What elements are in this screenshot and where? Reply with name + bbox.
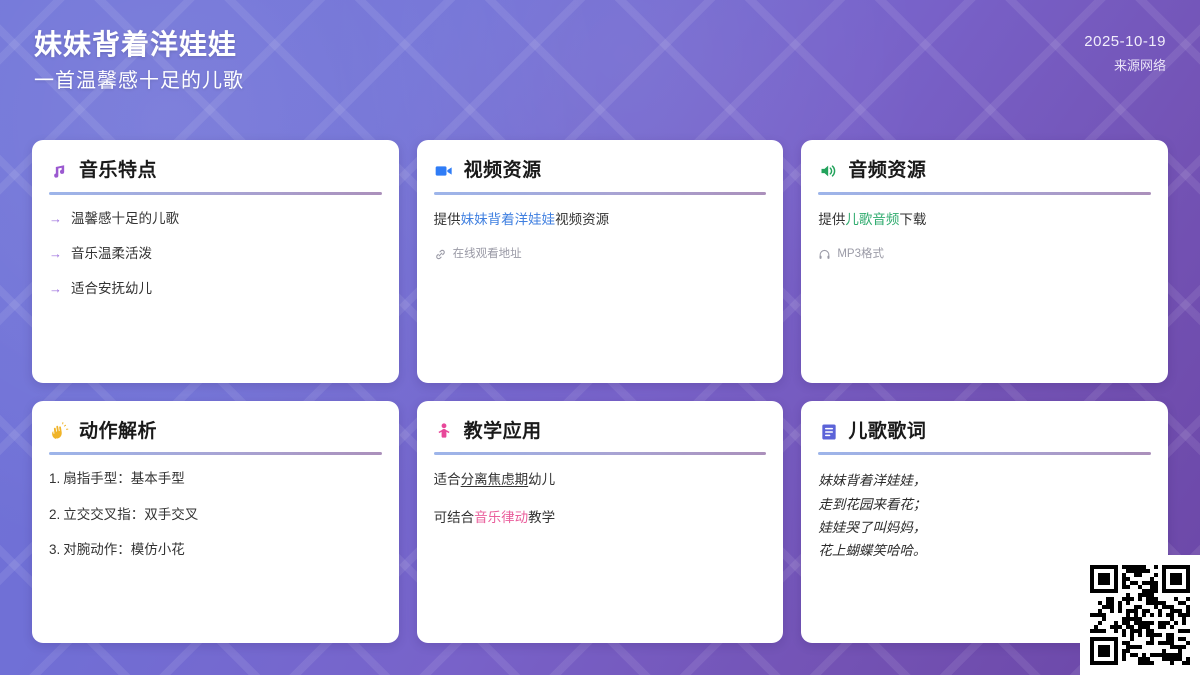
list-item: 3.对腕动作：模仿小花 <box>49 540 382 560</box>
card-divider <box>49 452 382 455</box>
text-prefix: 适合 <box>434 472 461 487</box>
card-divider <box>434 452 767 455</box>
card-grid: 音乐特点 → 温馨感十足的儿歌 → 音乐温柔活泼 → 适合安抚幼儿 <box>32 140 1168 643</box>
text-prefix: 提供 <box>434 212 461 227</box>
card-title: 视频资源 <box>464 160 542 183</box>
card-motion-analysis[interactable]: 动作解析 1.扇指手型：基本手型 2.立交交叉指：双手交叉 3.对腕动作：模仿小… <box>32 401 399 644</box>
card-teaching-application[interactable]: 教学应用 适合分离焦虑期幼儿 可结合音乐律动教学 <box>417 401 784 644</box>
card-music-features[interactable]: 音乐特点 → 温馨感十足的儿歌 → 音乐温柔活泼 → 适合安抚幼儿 <box>32 140 399 383</box>
text-suffix: 幼儿 <box>528 472 555 487</box>
text-prefix: 可结合 <box>434 510 475 525</box>
card-header: 动作解析 <box>49 421 382 444</box>
card-header: 视频资源 <box>434 160 767 183</box>
card-body: 提供儿歌音频下载 MP3格式 <box>818 209 1151 367</box>
card-title: 音频资源 <box>848 160 926 183</box>
list-item-label: 适合安抚幼儿 <box>71 279 152 299</box>
card-title: 教学应用 <box>464 421 542 444</box>
teaching-line-1: 适合分离焦虑期幼儿 <box>434 469 767 491</box>
qr-code[interactable] <box>1080 555 1200 675</box>
text-suffix: 视频资源 <box>555 212 609 227</box>
list-item-label: 扇指手型：基本手型 <box>63 471 185 486</box>
text-highlight: 音乐律动 <box>474 510 528 525</box>
book-icon <box>818 421 839 442</box>
header-meta: 2025-10-19 来源网络 <box>1084 26 1166 79</box>
page-root: 妹妹背着洋娃娃 一首温馨感十足的儿歌 2025-10-19 来源网络 音乐特点 <box>0 0 1200 675</box>
list-item: 2.立交交叉指：双手交叉 <box>49 505 382 525</box>
list-index: 3. <box>49 542 60 557</box>
audio-description: 提供儿歌音频下载 <box>818 209 1151 231</box>
clapping-hands-icon <box>49 421 70 442</box>
list-index: 1. <box>49 471 60 486</box>
video-description: 提供妹妹背着洋娃娃视频资源 <box>434 209 767 231</box>
card-audio-resource[interactable]: 音频资源 提供儿歌音频下载 MP3格式 <box>801 140 1168 383</box>
lyric-line: 妹妹背着洋娃娃， <box>818 469 1151 492</box>
list-item: → 适合安抚幼儿 <box>49 279 382 299</box>
music-note-icon <box>49 161 70 182</box>
page-title: 妹妹背着洋娃娃 <box>34 26 244 64</box>
text-highlight: 分离焦虑期 <box>461 472 529 487</box>
audio-format-row: MP3格式 <box>818 246 1151 262</box>
headphones-icon <box>818 248 831 261</box>
card-video-resource[interactable]: 视频资源 提供妹妹背着洋娃娃视频资源 在线观看地址 <box>417 140 784 383</box>
card-title: 音乐特点 <box>79 160 157 183</box>
text-highlight: 儿歌音频 <box>845 212 899 227</box>
arrow-icon: → <box>49 244 62 264</box>
title-block: 妹妹背着洋娃娃 一首温馨感十足的儿歌 <box>34 26 244 98</box>
list-item-label: 音乐温柔活泼 <box>71 244 152 264</box>
video-camera-icon <box>434 161 455 182</box>
card-header: 儿歌歌词 <box>818 421 1151 444</box>
link-icon <box>434 248 447 261</box>
card-header: 教学应用 <box>434 421 767 444</box>
card-divider <box>434 192 767 195</box>
page-subtitle: 一首温馨感十足的儿歌 <box>34 64 244 98</box>
feature-list: → 温馨感十足的儿歌 → 音乐温柔活泼 → 适合安抚幼儿 <box>49 209 382 300</box>
list-item: 1.扇指手型：基本手型 <box>49 469 382 489</box>
lyric-line: 走到花园来看花； <box>818 493 1151 516</box>
lyric-line: 娃娃哭了叫妈妈， <box>818 516 1151 539</box>
card-title: 动作解析 <box>79 421 157 444</box>
list-item-label: 对腕动作：模仿小花 <box>63 542 185 557</box>
card-divider <box>818 452 1151 455</box>
qr-code-image <box>1090 565 1190 665</box>
card-title: 儿歌歌词 <box>848 421 926 444</box>
video-link-label: 在线观看地址 <box>453 246 522 262</box>
teaching-line-2: 可结合音乐律动教学 <box>434 507 767 529</box>
list-index: 2. <box>49 507 60 522</box>
lyrics-block: 妹妹背着洋娃娃， 走到花园来看花； 娃娃哭了叫妈妈， 花上蝴蝶笑哈哈。 <box>818 469 1151 562</box>
card-body: 适合分离焦虑期幼儿 可结合音乐律动教学 <box>434 469 767 627</box>
publish-date: 2025-10-19 <box>1084 30 1166 54</box>
card-divider <box>818 192 1151 195</box>
list-item: → 音乐温柔活泼 <box>49 244 382 264</box>
text-suffix: 教学 <box>528 510 555 525</box>
video-link-row[interactable]: 在线观看地址 <box>434 246 767 262</box>
motion-steps-list: 1.扇指手型：基本手型 2.立交交叉指：双手交叉 3.对腕动作：模仿小花 <box>49 469 382 560</box>
text-highlight: 妹妹背着洋娃娃 <box>461 212 556 227</box>
card-body: 1.扇指手型：基本手型 2.立交交叉指：双手交叉 3.对腕动作：模仿小花 <box>49 469 382 627</box>
arrow-icon: → <box>49 209 62 229</box>
card-header: 音乐特点 <box>49 160 382 183</box>
speaker-icon <box>818 161 839 182</box>
list-item-label: 温馨感十足的儿歌 <box>71 209 179 229</box>
list-item: → 温馨感十足的儿歌 <box>49 209 382 229</box>
card-header: 音频资源 <box>818 160 1151 183</box>
audio-format-label: MP3格式 <box>837 246 884 262</box>
text-suffix: 下载 <box>899 212 926 227</box>
arrow-icon: → <box>49 279 62 299</box>
source-label: 来源网络 <box>1114 54 1166 79</box>
list-item-label: 立交交叉指：双手交叉 <box>63 507 198 522</box>
child-person-icon <box>434 421 455 442</box>
card-body: → 温馨感十足的儿歌 → 音乐温柔活泼 → 适合安抚幼儿 <box>49 209 382 367</box>
card-divider <box>49 192 382 195</box>
card-body: 提供妹妹背着洋娃娃视频资源 在线观看地址 <box>434 209 767 367</box>
page-header: 妹妹背着洋娃娃 一首温馨感十足的儿歌 2025-10-19 来源网络 <box>0 0 1200 132</box>
text-prefix: 提供 <box>818 212 845 227</box>
